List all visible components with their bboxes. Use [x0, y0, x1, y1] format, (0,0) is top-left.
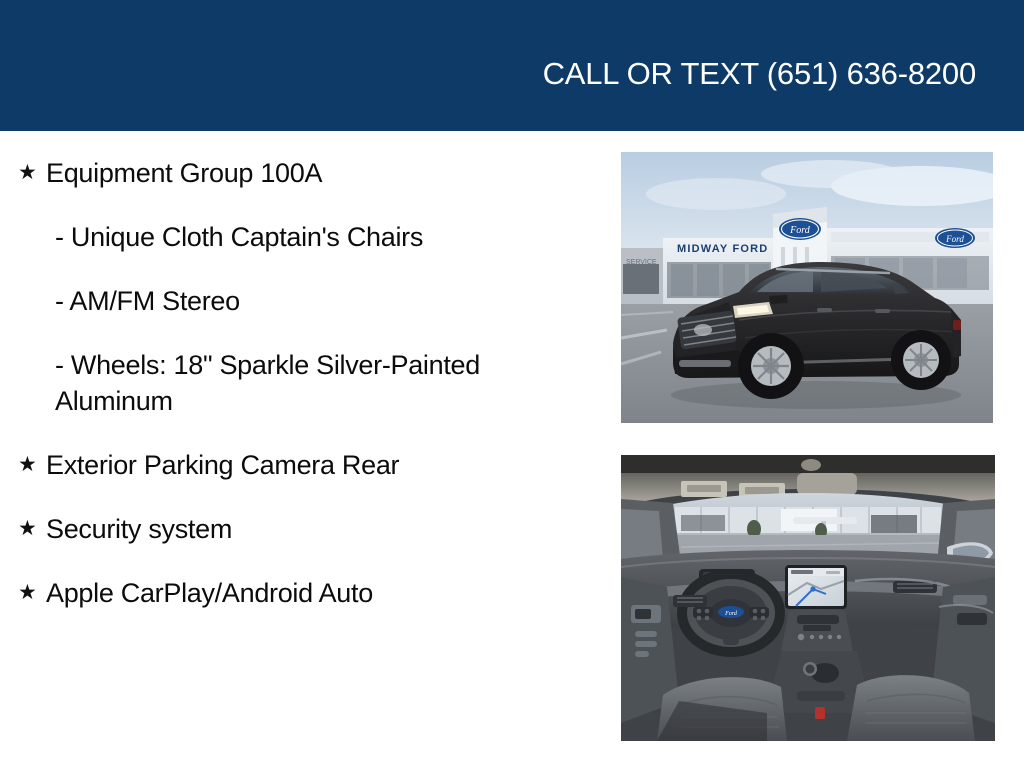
list-item-label: Apple CarPlay/Android Auto: [46, 575, 516, 611]
call-or-text-phone[interactable]: CALL OR TEXT (651) 636-8200: [543, 40, 1024, 92]
star-bullet-icon: ★: [12, 447, 46, 483]
svg-text:Ford: Ford: [789, 225, 811, 236]
star-bullet-icon: ★: [12, 575, 46, 611]
list-item: - Wheels: 18" Sparkle Silver-Painted Alu…: [12, 347, 600, 419]
features-list: ★ Equipment Group 100A - Unique Cloth Ca…: [0, 131, 600, 768]
list-item: - AM/FM Stereo: [12, 283, 600, 319]
star-bullet-icon: ★: [12, 511, 46, 547]
list-item: - Unique Cloth Captain's Chairs: [12, 219, 600, 255]
svg-text:Ford: Ford: [945, 234, 964, 244]
list-item: ★ Equipment Group 100A: [12, 155, 600, 191]
star-bullet-icon: ★: [12, 155, 46, 191]
svg-text:SERVICE: SERVICE: [626, 259, 657, 266]
list-item: ★ Exterior Parking Camera Rear: [12, 447, 600, 483]
list-item: ★ Security system: [12, 511, 600, 547]
interior-dashboard-photo[interactable]: Ford: [621, 455, 995, 741]
slide-root: CALL OR TEXT (651) 636-8200 ★ Equipment …: [0, 0, 1024, 768]
list-item-label: Equipment Group 100A: [46, 155, 516, 191]
svg-text:MIDWAY FORD: MIDWAY FORD: [677, 243, 768, 255]
list-item-label: - Unique Cloth Captain's Chairs: [46, 219, 516, 255]
list-item-label: - AM/FM Stereo: [46, 283, 516, 319]
list-item-label: Security system: [46, 511, 516, 547]
list-item: ★ Apple CarPlay/Android Auto: [12, 575, 600, 611]
list-item-label: - Wheels: 18" Sparkle Silver-Painted Alu…: [46, 347, 516, 419]
header-banner: CALL OR TEXT (651) 636-8200: [0, 0, 1024, 131]
svg-text:Ford: Ford: [724, 611, 738, 617]
exterior-vehicle-photo[interactable]: SERVICE MIDWAY FORD Ford: [621, 152, 993, 423]
list-item-label: Exterior Parking Camera Rear: [46, 447, 516, 483]
